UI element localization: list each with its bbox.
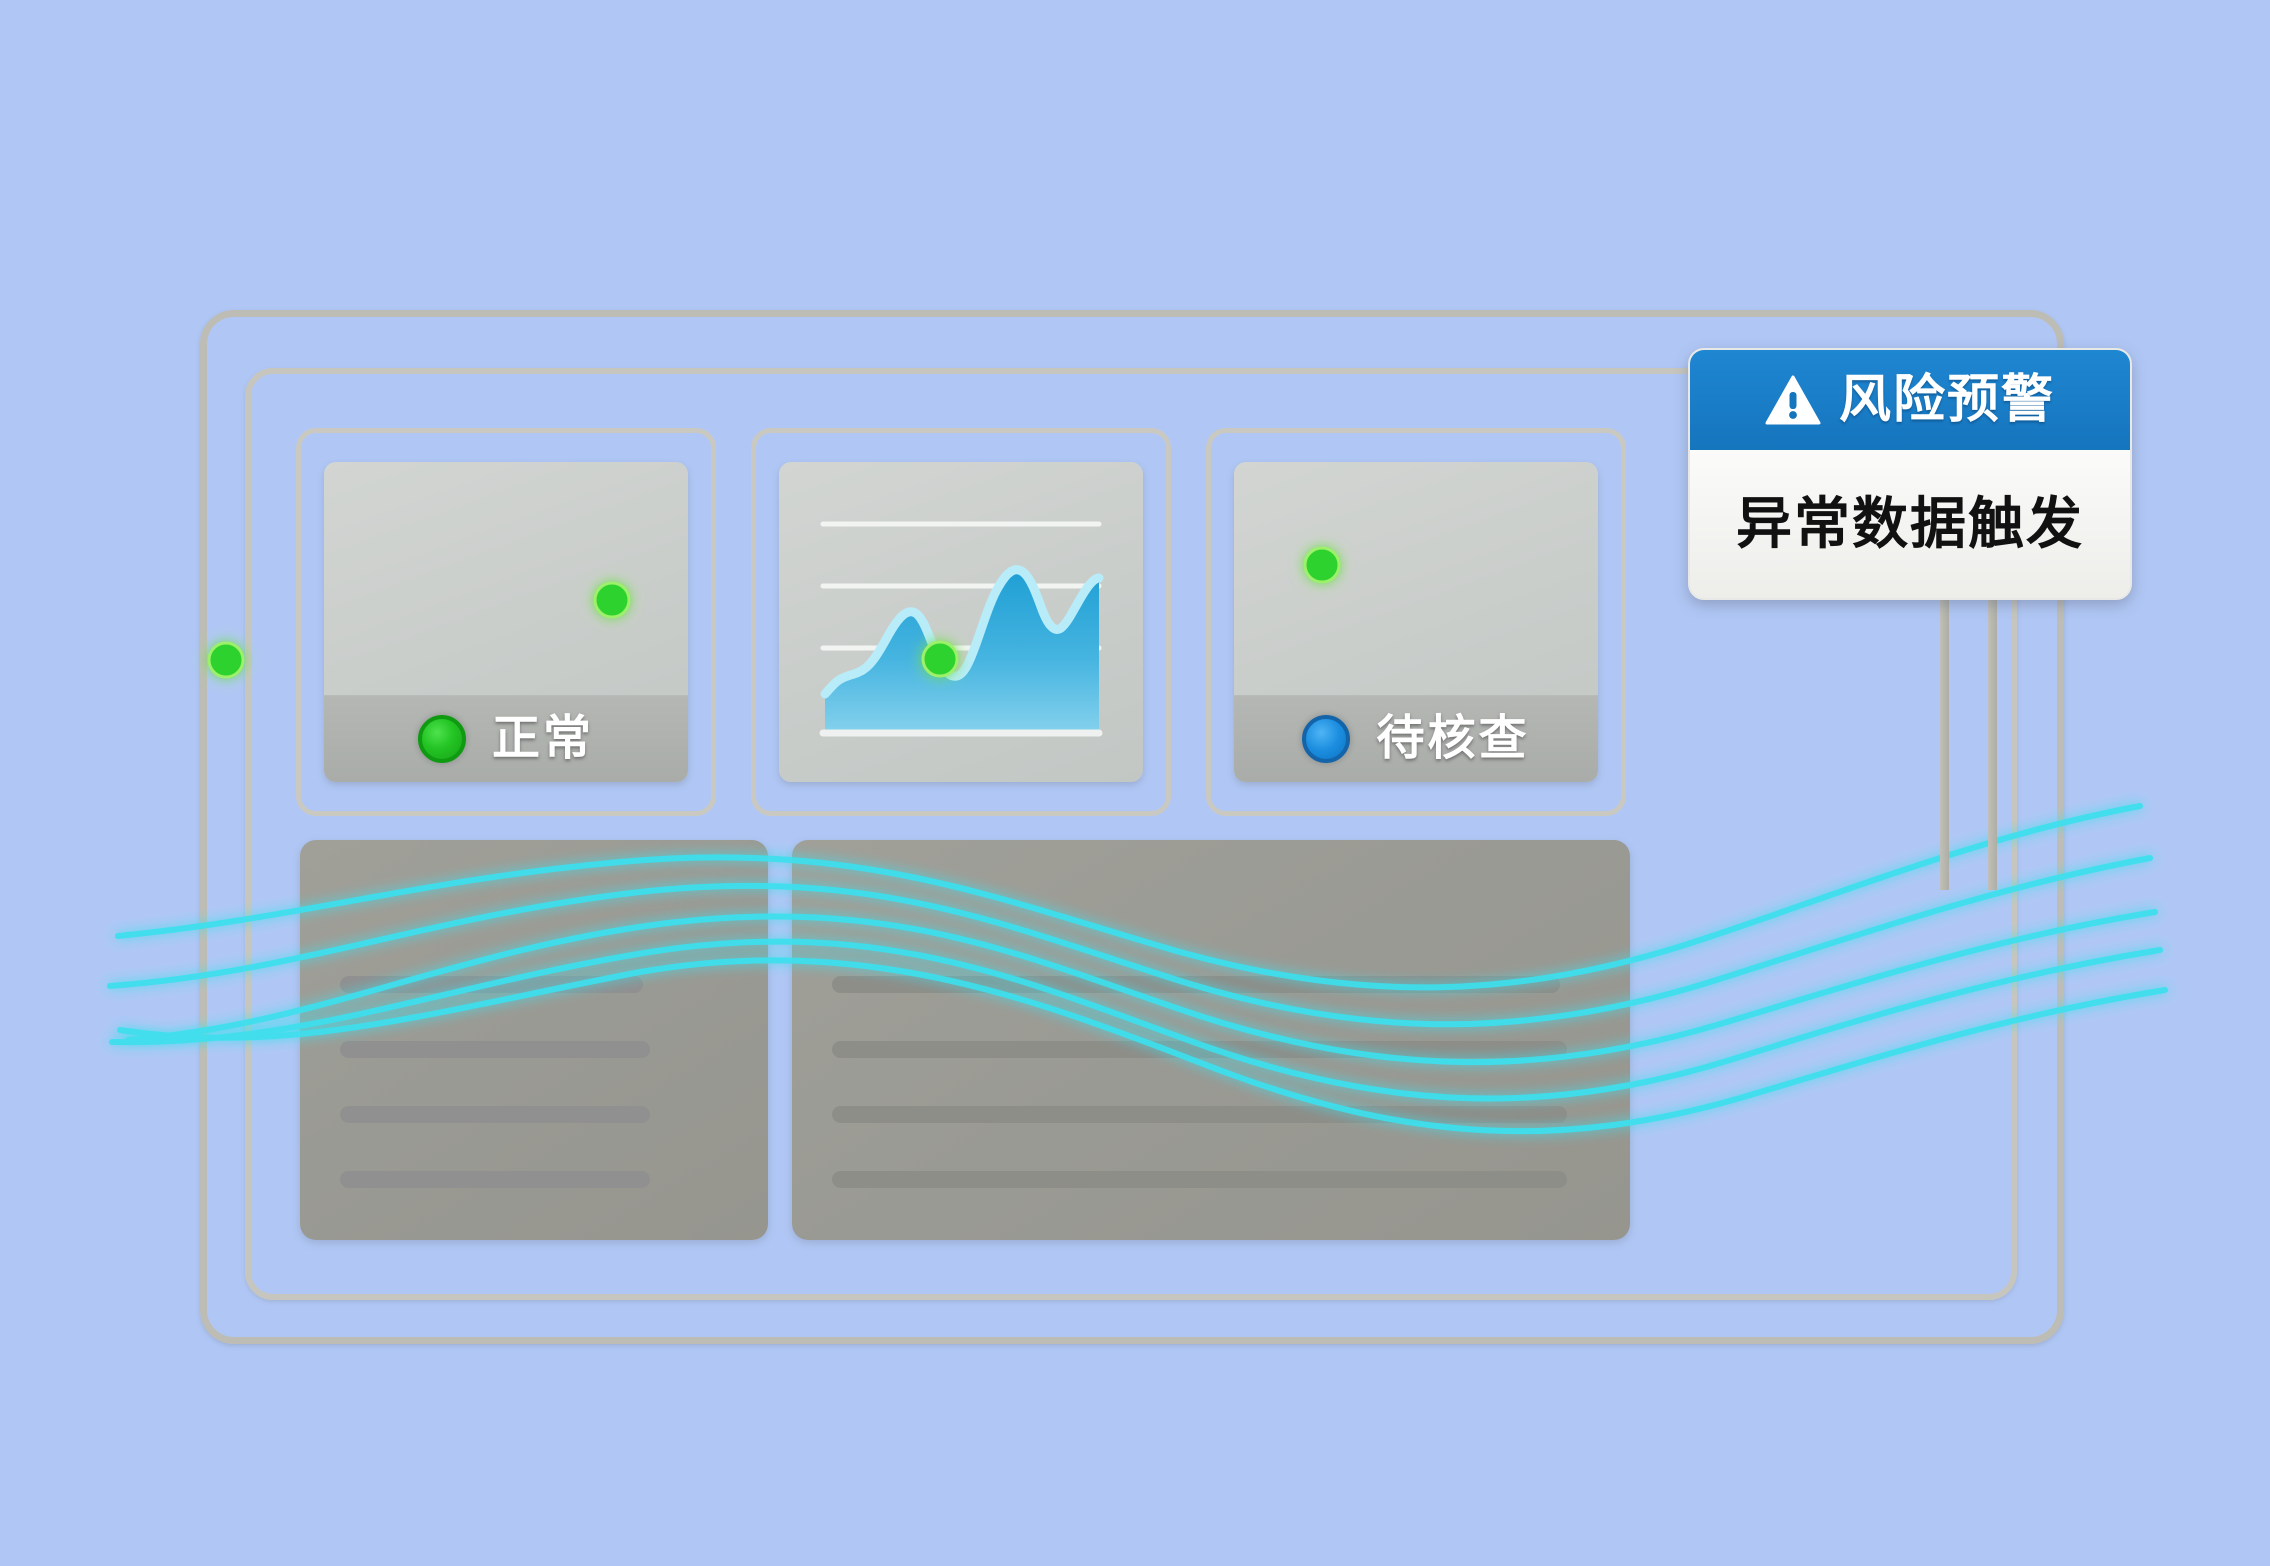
badge-post-left bbox=[1940, 590, 1949, 890]
status-card-normal[interactable]: 正常 bbox=[324, 462, 688, 782]
content-panel-row bbox=[300, 840, 1630, 1240]
status-card-row: 正常 bbox=[296, 428, 1626, 818]
status-card-pending[interactable]: 待核查 bbox=[1234, 462, 1598, 782]
status-card-pending-label: 待核查 bbox=[1376, 715, 1529, 763]
risk-alert-badge[interactable]: 风险预警 异常数据触发 bbox=[1688, 348, 2132, 600]
risk-alert-title: 风险预警 bbox=[1839, 374, 2055, 426]
badge-support-posts bbox=[1930, 590, 2050, 890]
placeholder-line bbox=[340, 1041, 650, 1058]
trend-card-outline bbox=[751, 428, 1171, 816]
placeholder-line bbox=[340, 1171, 650, 1188]
placeholder-line bbox=[340, 1106, 650, 1123]
placeholder-line bbox=[340, 976, 643, 993]
placeholder-line bbox=[832, 976, 1560, 993]
status-card-pending-footer: 待核查 bbox=[1234, 695, 1598, 782]
status-card-normal-label: 正常 bbox=[492, 715, 594, 763]
placeholder-line bbox=[832, 1041, 1567, 1058]
badge-post-right bbox=[1988, 590, 1997, 890]
status-card-normal-footer: 正常 bbox=[324, 695, 688, 782]
content-panel-right[interactable] bbox=[792, 840, 1630, 1240]
content-panel-left[interactable] bbox=[300, 840, 768, 1240]
status-dot-green-icon bbox=[418, 715, 466, 763]
placeholder-line bbox=[832, 1171, 1567, 1188]
trend-card[interactable] bbox=[779, 462, 1143, 782]
illustration-stage: 正常 bbox=[0, 0, 2270, 1566]
status-dot-blue-icon bbox=[1302, 715, 1350, 763]
status-card-pending-body bbox=[1234, 462, 1598, 695]
area-chart bbox=[779, 462, 1143, 782]
status-card-normal-outline: 正常 bbox=[296, 428, 716, 816]
trend-card-body bbox=[779, 462, 1143, 782]
status-card-normal-body bbox=[324, 462, 688, 695]
status-card-pending-outline: 待核查 bbox=[1206, 428, 1626, 816]
warning-triangle-icon bbox=[1765, 374, 1821, 426]
placeholder-line bbox=[832, 1106, 1567, 1123]
risk-alert-header: 风险预警 bbox=[1690, 350, 2130, 450]
risk-alert-body: 异常数据触发 bbox=[1690, 450, 2130, 598]
risk-alert-message: 异常数据触发 bbox=[1736, 496, 2084, 552]
